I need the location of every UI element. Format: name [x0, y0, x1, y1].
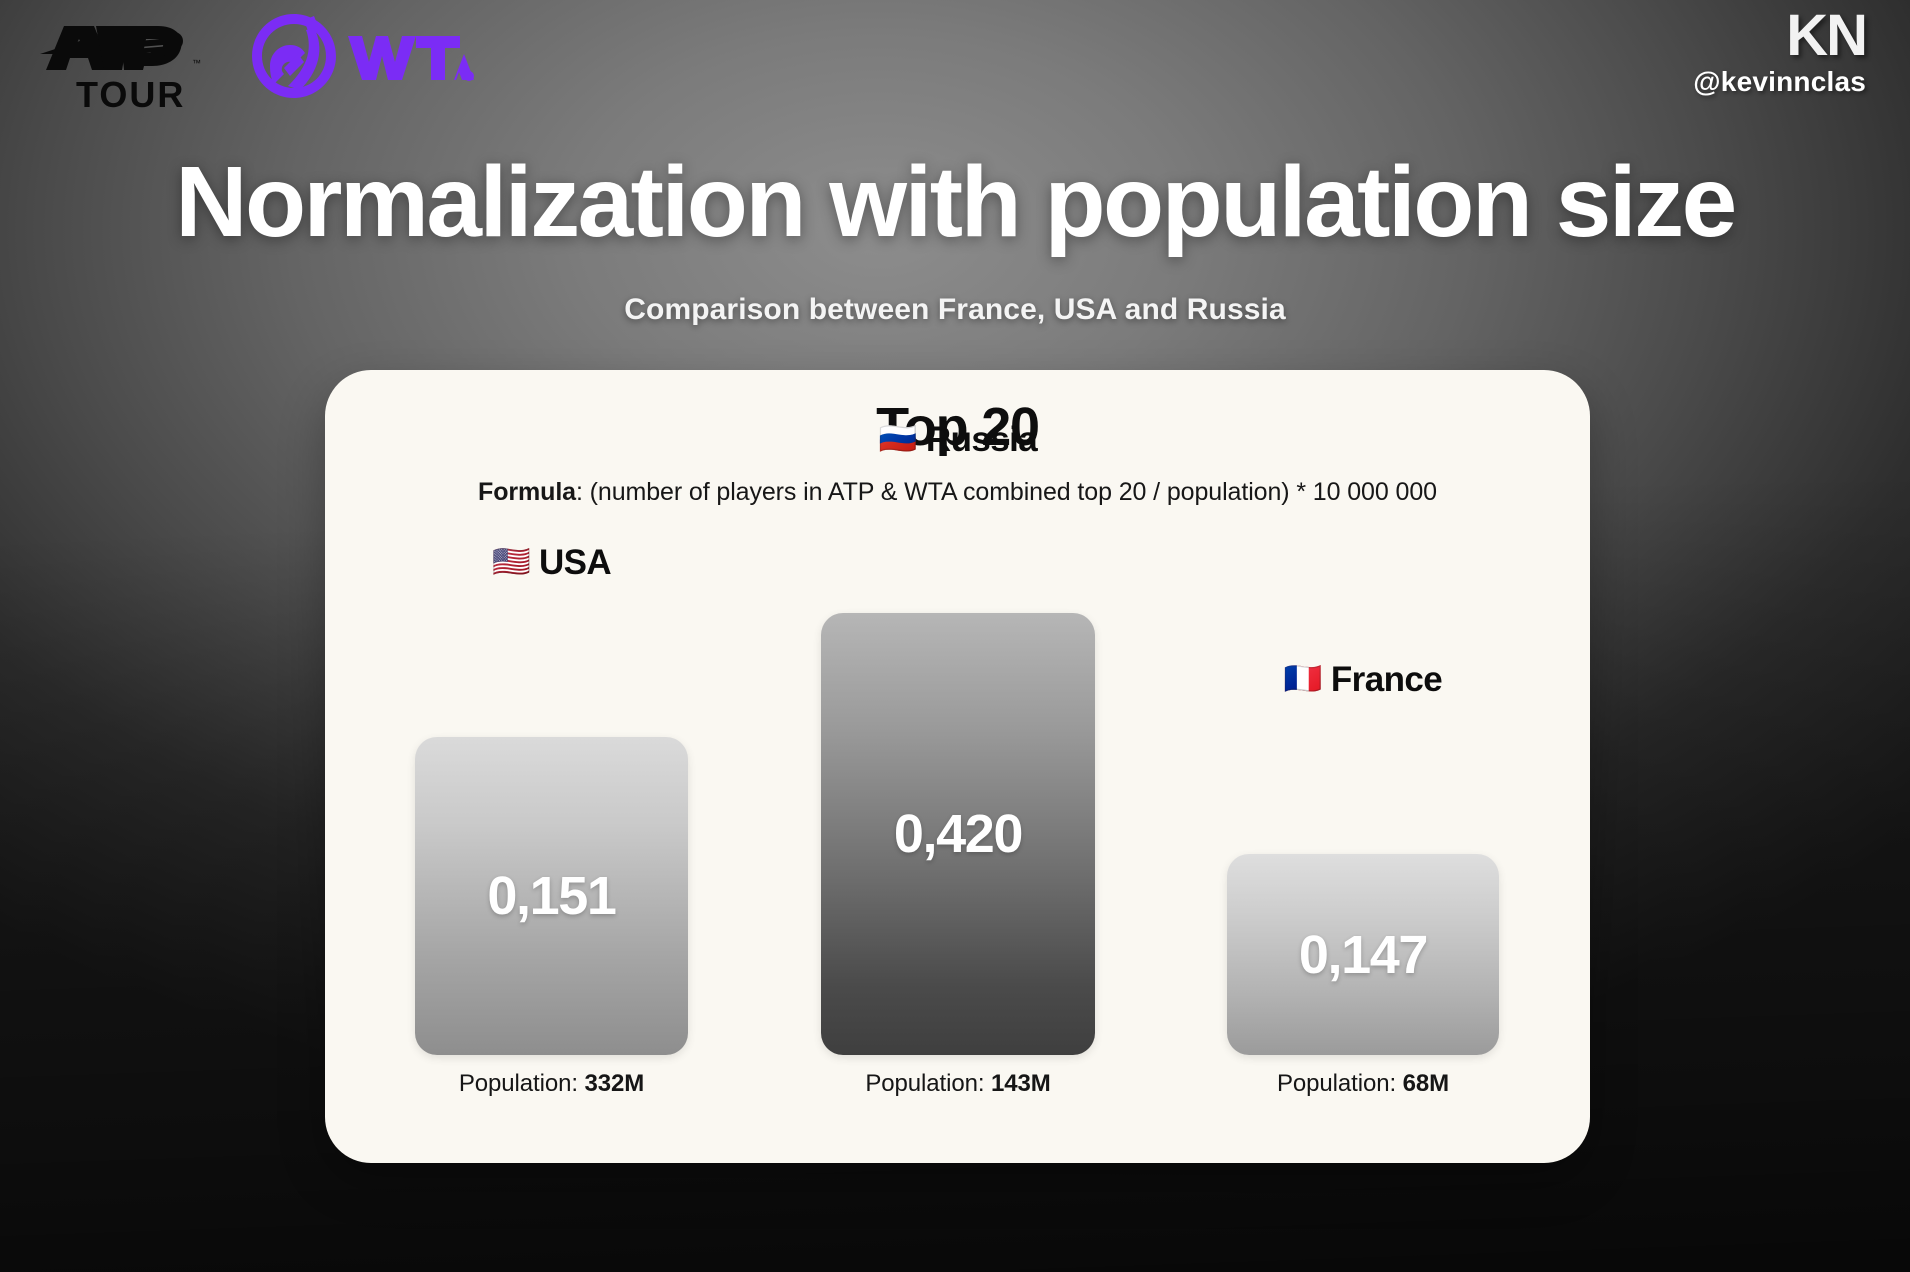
country-name-usa: USA: [539, 543, 611, 582]
population-prefix-france: Population:: [1277, 1070, 1396, 1097]
flag-icon-russia: 🇷🇺: [879, 421, 917, 457]
population-prefix-russia: Population:: [865, 1070, 984, 1097]
population-value-usa: 332M: [584, 1070, 644, 1097]
bar-group-russia: 🇷🇺Russia 0,420 Population: 143M: [821, 370, 1095, 1163]
brand-block: KN @kevinnclas: [1693, 8, 1866, 98]
chart-card: Top 20 Formula: (number of players in AT…: [325, 370, 1590, 1163]
bar-value-russia: 0,420: [894, 803, 1022, 865]
population-label-russia: Population: 143M: [821, 1070, 1095, 1098]
svg-text:™: ™: [192, 58, 201, 68]
population-label-france: Population: 68M: [1227, 1070, 1499, 1098]
atp-tour-wordmark: TOUR: [76, 74, 185, 112]
population-prefix-usa: Population:: [459, 1070, 578, 1097]
page-subtitle: Comparison between France, USA and Russi…: [0, 293, 1910, 327]
population-value-russia: 143M: [991, 1070, 1051, 1097]
flag-icon-usa: 🇺🇸: [492, 544, 530, 580]
bar-value-france: 0,147: [1299, 924, 1427, 986]
atp-tour-logo: ™ TOUR: [34, 8, 234, 112]
bar-chart: 🇺🇸USA 0,151 Population: 332M 🇷🇺Russia 0,…: [325, 370, 1590, 1163]
header-bar: ™ TOUR KN @kevinnclas: [0, 0, 1910, 130]
bar-value-usa: 0,151: [487, 865, 615, 927]
country-name-russia: Russia: [926, 420, 1037, 459]
bar-group-france: 🇫🇷France 0,147 Population: 68M: [1227, 370, 1499, 1163]
bar-usa: 0,151: [415, 737, 688, 1055]
wta-logo: [248, 10, 474, 102]
flag-icon-france: 🇫🇷: [1284, 661, 1322, 697]
page-title: Normalization with population size: [0, 150, 1910, 254]
bar-label-france: 🇫🇷France: [1227, 660, 1499, 700]
brand-social-handle: @kevinnclas: [1693, 66, 1866, 98]
bar-label-usa: 🇺🇸USA: [415, 543, 688, 583]
bar-russia: 0,420: [821, 613, 1095, 1055]
bar-france: 0,147: [1227, 854, 1499, 1055]
brand-logo-kn: KN: [1693, 8, 1866, 64]
population-value-france: 68M: [1403, 1070, 1449, 1097]
bar-group-usa: 🇺🇸USA 0,151 Population: 332M: [415, 370, 688, 1163]
country-name-france: France: [1331, 660, 1442, 699]
population-label-usa: Population: 332M: [415, 1070, 688, 1098]
bar-label-russia: 🇷🇺Russia: [821, 420, 1095, 460]
